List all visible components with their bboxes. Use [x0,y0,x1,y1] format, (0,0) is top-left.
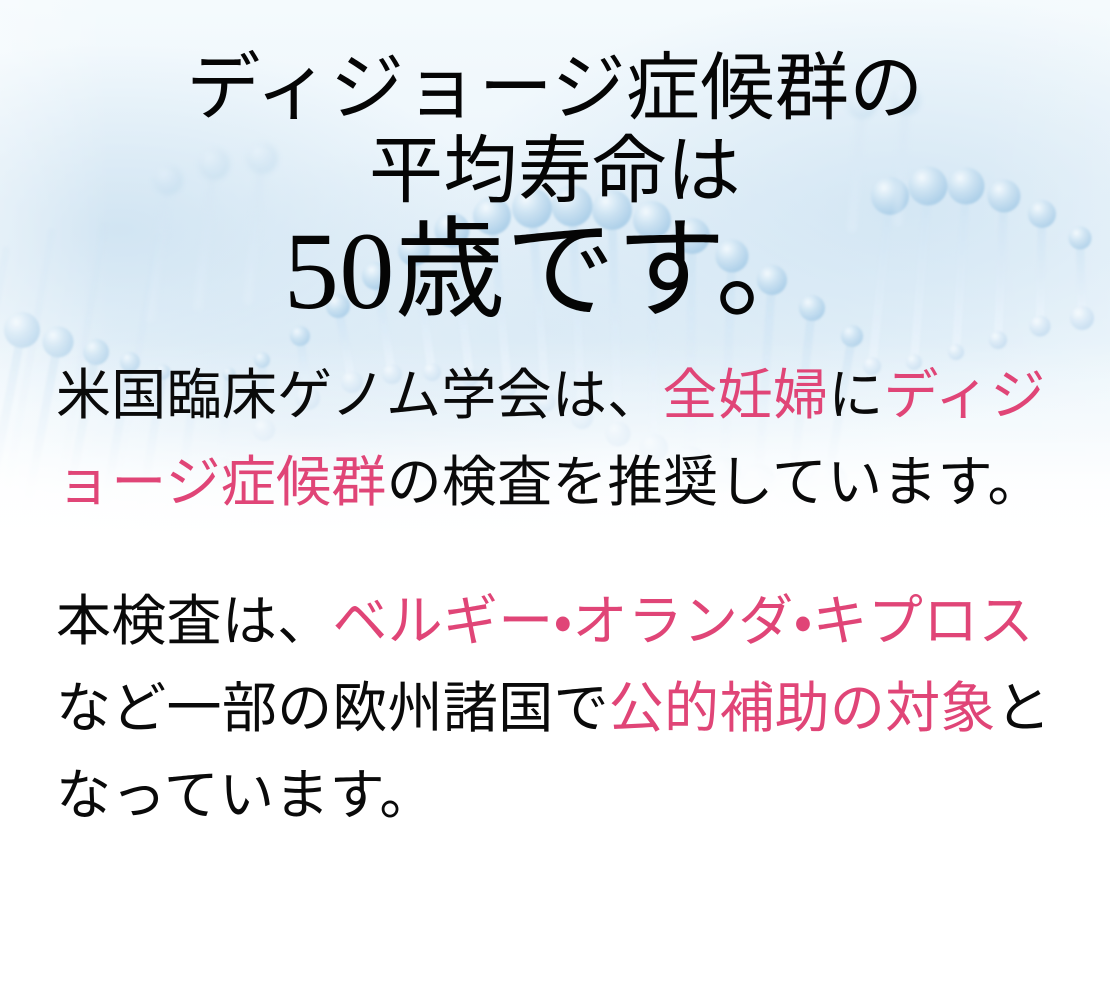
headline-line-2: 平均寿命は [0,135,1110,210]
text-segment-highlight: 公的補助の対象 [609,678,996,739]
poster-page: ディジョージ症候群の 平均寿命は 50歳です。 米国臨床ゲノム学会は、全妊婦にデ… [0,0,1110,1000]
headline-line-3-emphasis: 50歳です。 [0,215,1110,327]
page-title: ディジョージ症候群の 平均寿命は 50歳です。 [0,0,1110,327]
paragraph-recommendation: 米国臨床ゲノム学会は、全妊婦にディジョージ症候群の検査を推奨しています。 [56,353,1062,527]
text-segment: の検査を推奨しています。 [387,452,1043,513]
text-segment: など一部の欧州諸国で [56,678,609,739]
text-segment-highlight: ベルギー・オランダ・キプロス [332,591,1033,652]
text-segment: に [828,365,883,426]
body-copy: 米国臨床ゲノム学会は、全妊婦にディジョージ症候群の検査を推奨しています。 本検査… [0,353,1110,839]
poster-content: ディジョージ症候群の 平均寿命は 50歳です。 米国臨床ゲノム学会は、全妊婦にデ… [0,0,1110,840]
headline-line-1: ディジョージ症候群の [0,52,1110,127]
paragraph-subsidy: 本検査は、ベルギー・オランダ・キプロスなど一部の欧州諸国で公的補助の対象となって… [56,579,1062,840]
text-segment: 本検査は、 [56,591,332,652]
text-segment-highlight: 全妊婦 [662,365,828,426]
text-segment: 米国臨床ゲノム学会は、 [56,365,662,426]
